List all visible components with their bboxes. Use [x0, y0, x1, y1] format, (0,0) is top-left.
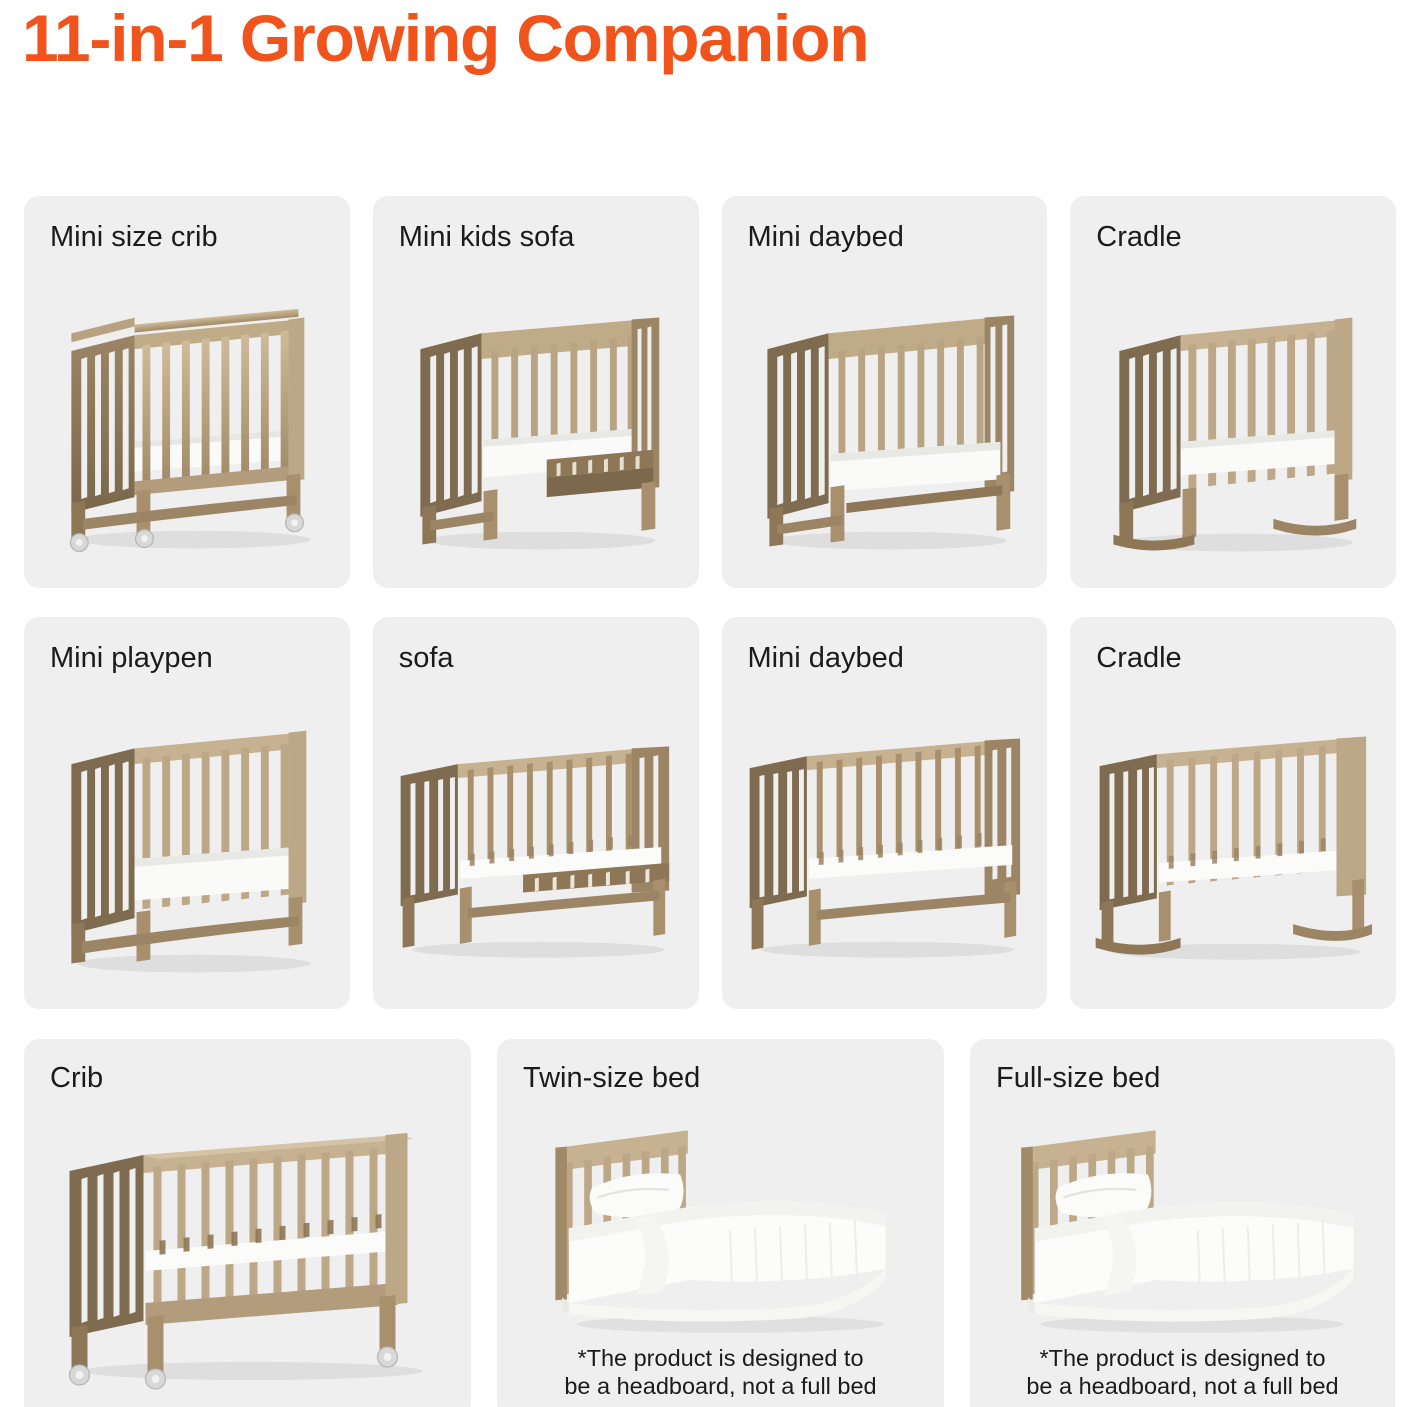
card-label: Cradle [1096, 222, 1181, 254]
conversion-card-crib[interactable]: Crib [24, 1039, 471, 1407]
cradle-2-illustration [1070, 713, 1396, 993]
card-label: Mini daybed [748, 222, 904, 254]
footnote-line-2: be a headboard, not a full bed [1026, 1373, 1338, 1399]
card-label: Twin-size bed [523, 1063, 700, 1095]
conversion-grid: Mini size crib [0, 196, 1422, 1407]
conversion-card-full-size-bed[interactable]: Full-size bed [970, 1039, 1395, 1407]
product-infographic: 11-in-1 Growing Companion Mini size crib [0, 0, 1422, 1407]
card-label: Full-size bed [996, 1063, 1160, 1095]
crib-illustration [24, 1125, 471, 1395]
footnote-line-1: *The product is designed to [577, 1345, 863, 1371]
card-label: Mini playpen [50, 643, 213, 675]
card-label: Mini daybed [748, 643, 904, 675]
conversion-card-cradle-1[interactable]: Cradle [1070, 196, 1396, 588]
conversion-row-1: Mini size crib [0, 196, 1422, 588]
conversion-card-mini-size-crib[interactable]: Mini size crib [24, 196, 350, 588]
mini-kids-sofa-illustration [373, 292, 699, 572]
twin-bed-footnote: *The product is designed to be a headboa… [497, 1344, 944, 1401]
conversion-card-mini-playpen[interactable]: Mini playpen [24, 617, 350, 1009]
footnote-line-1: *The product is designed to [1039, 1345, 1325, 1371]
full-size-bed-illustration [970, 1115, 1395, 1355]
twin-size-bed-illustration [497, 1115, 944, 1355]
full-bed-footnote: *The product is designed to be a headboa… [970, 1344, 1395, 1401]
card-label: Mini size crib [50, 222, 218, 254]
mini-daybed-2-illustration [722, 713, 1048, 993]
conversion-row-3: Crib [0, 1039, 1422, 1407]
page-title: 11-in-1 Growing Companion [22, 4, 868, 73]
conversion-card-cradle-2[interactable]: Cradle [1070, 617, 1396, 1009]
mini-size-crib-illustration [24, 292, 350, 572]
conversion-card-mini-daybed-1[interactable]: Mini daybed [722, 196, 1048, 588]
cradle-illustration [1070, 292, 1396, 572]
conversion-row-2: Mini playpen [0, 617, 1422, 1009]
mini-daybed-illustration [722, 292, 1048, 572]
conversion-card-mini-daybed-2[interactable]: Mini daybed [722, 617, 1048, 1009]
card-label: sofa [399, 643, 454, 675]
mini-playpen-illustration [24, 713, 350, 993]
sofa-illustration [373, 713, 699, 993]
footnote-line-2: be a headboard, not a full bed [564, 1373, 876, 1399]
card-label: Crib [50, 1063, 103, 1095]
card-label: Mini kids sofa [399, 222, 575, 254]
conversion-card-twin-size-bed[interactable]: Twin-size bed [497, 1039, 944, 1407]
conversion-card-mini-kids-sofa[interactable]: Mini kids sofa [373, 196, 699, 588]
card-label: Cradle [1096, 643, 1181, 675]
conversion-card-sofa[interactable]: sofa [373, 617, 699, 1009]
